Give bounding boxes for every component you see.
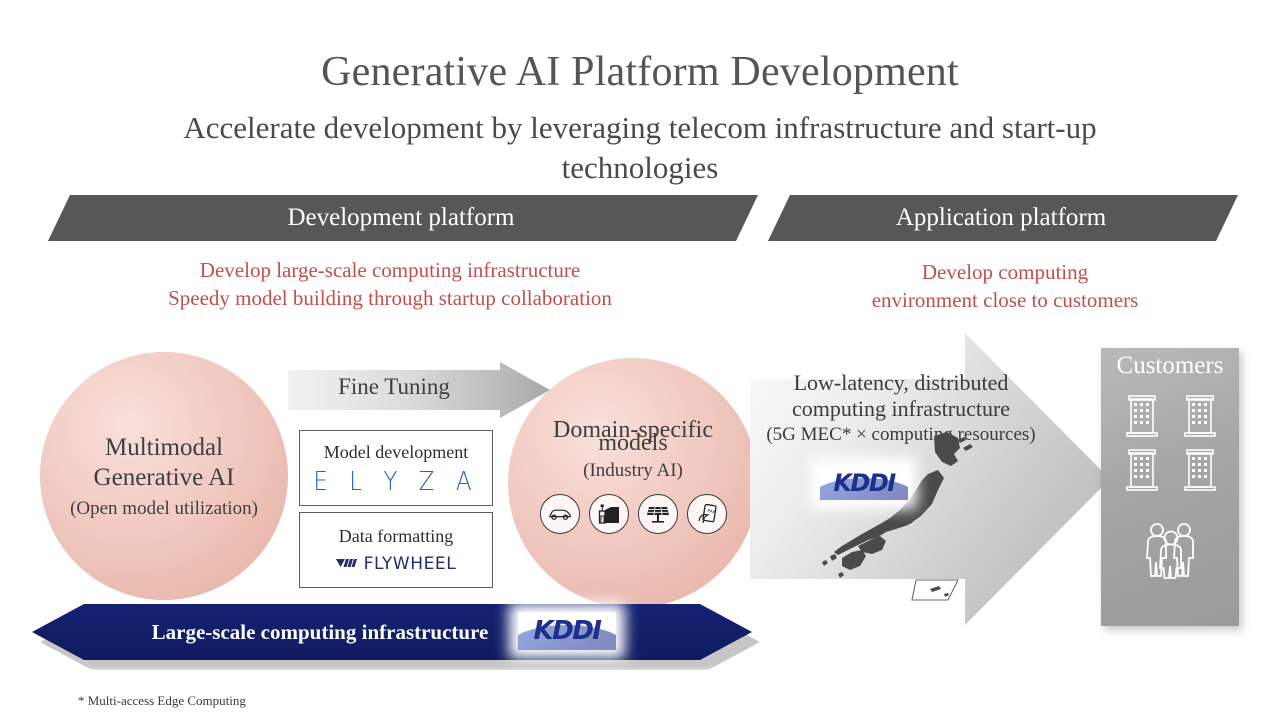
caption-application-line1: Develop computing bbox=[780, 258, 1230, 286]
caption-development-line2: Speedy model building through startup co… bbox=[60, 284, 720, 312]
banner-development-platform: Development platform bbox=[48, 195, 758, 241]
infrastructure-band-label: Large-scale computing infrastructure bbox=[120, 620, 520, 645]
caption-application-line2: environment close to customers bbox=[780, 286, 1230, 314]
banner-application-platform: Application platform bbox=[768, 195, 1238, 241]
banner-application-label: Application platform bbox=[896, 204, 1106, 232]
node-domain-line2: models bbox=[598, 429, 667, 458]
edge-line2: computing infrastructure bbox=[756, 396, 1046, 422]
footnote: * Multi-access Edge Computing bbox=[78, 693, 246, 709]
banner-development-label: Development platform bbox=[287, 204, 514, 232]
building-icon bbox=[1124, 446, 1160, 492]
node-multimodal-line1: Multimodal bbox=[105, 433, 223, 464]
customers-buildings-grid bbox=[1113, 392, 1229, 492]
svg-text:PAY: PAY bbox=[706, 508, 715, 515]
kddi-logo-infrastructure: KDDI bbox=[518, 612, 616, 650]
flywheel-mark-icon bbox=[336, 558, 358, 570]
card-model-development-caption: Model development bbox=[324, 442, 468, 463]
industry-icon-row: PAY bbox=[540, 494, 727, 534]
card-data-formatting-caption: Data formatting bbox=[339, 526, 453, 547]
flywheel-logo: FLYWHEEL bbox=[336, 554, 457, 574]
node-multimodal-generative-ai: Multimodal Generative AI (Open model uti… bbox=[40, 352, 288, 600]
edge-line1: Low-latency, distributed bbox=[756, 370, 1046, 396]
caption-development: Develop large-scale computing infrastruc… bbox=[60, 256, 720, 313]
card-data-formatting: Data formatting FLYWHEEL bbox=[299, 512, 493, 588]
japan-map bbox=[808, 428, 998, 608]
page-title: Generative AI Platform Development bbox=[0, 48, 1280, 96]
card-model-development: Model development E L Y Z A bbox=[299, 430, 493, 506]
node-multimodal-note: (Open model utilization) bbox=[70, 498, 258, 520]
node-domain-note: (Industry AI) bbox=[583, 460, 683, 482]
kddi-wordmark: KDDI bbox=[833, 469, 894, 497]
mobile-payment-icon: PAY bbox=[687, 494, 727, 534]
people-group-icon bbox=[1135, 520, 1207, 582]
node-domain-specific-models: Domain-specific models (Industry AI) bbox=[508, 358, 758, 608]
slide-root: Generative AI Platform Development Accel… bbox=[0, 0, 1280, 720]
kddi-logo-edge: KDDI bbox=[820, 466, 908, 500]
node-multimodal-line2: Generative AI bbox=[94, 463, 235, 494]
car-icon bbox=[540, 494, 580, 534]
kddi-wordmark: KDDI bbox=[534, 616, 601, 646]
caption-application: Develop computing environment close to c… bbox=[780, 258, 1230, 315]
building-icon bbox=[1124, 392, 1160, 438]
elyza-logo: E L Y Z A bbox=[313, 467, 478, 496]
page-subtitle: Accelerate development by leveraging tel… bbox=[140, 108, 1140, 187]
building-icon bbox=[1182, 392, 1218, 438]
flywheel-wordmark: FLYWHEEL bbox=[364, 554, 457, 574]
store-icon bbox=[589, 494, 629, 534]
building-icon bbox=[1182, 446, 1218, 492]
fine-tuning-label: Fine Tuning bbox=[288, 374, 500, 400]
solar-panel-icon bbox=[638, 494, 678, 534]
caption-development-line1: Develop large-scale computing infrastruc… bbox=[60, 256, 720, 284]
customers-title: Customers bbox=[1101, 352, 1239, 380]
